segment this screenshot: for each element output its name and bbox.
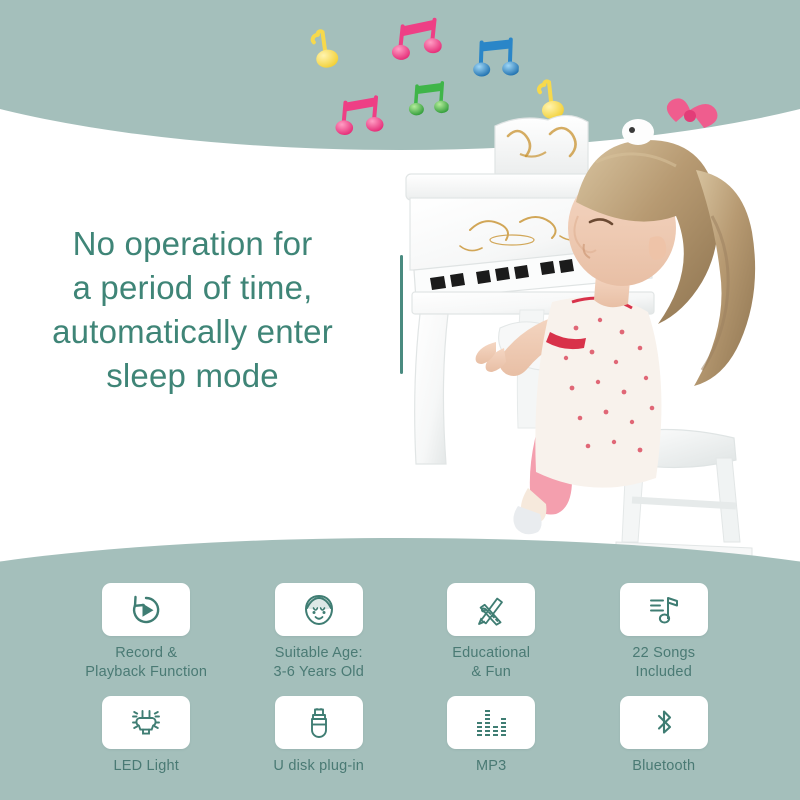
headline: No operation for a period of time, autom… xyxy=(0,222,385,398)
feature-label: LED Light xyxy=(114,757,179,776)
feature-label: 22 Songs Included xyxy=(632,644,695,682)
feature-icon-card[interactable] xyxy=(447,583,535,636)
feature-label: Suitable Age: 3-6 Years Old xyxy=(274,644,364,682)
piano-music-rack xyxy=(495,115,588,174)
hair-bow xyxy=(667,98,718,128)
headline-line-2: a period of time, xyxy=(0,266,385,310)
feature-mp3[interactable]: MP3 xyxy=(405,696,578,776)
feature-led-light[interactable]: LED Light xyxy=(60,696,233,776)
feature-icon-card[interactable] xyxy=(275,696,363,749)
product-feature-banner: No operation for a period of time, autom… xyxy=(0,0,800,800)
music-note-yellow-single-left xyxy=(303,26,345,75)
music-note-blue-beamed xyxy=(472,33,520,89)
music-playlist-icon xyxy=(647,593,681,627)
child-face-icon xyxy=(302,593,336,627)
feature-label: Educational & Fun xyxy=(452,644,530,682)
feature-icon-card[interactable] xyxy=(620,696,708,749)
feature-grid: Record & Playback Function Suitab xyxy=(60,583,750,776)
usb-drive-icon xyxy=(302,706,336,740)
hair-clip xyxy=(622,119,654,145)
feature-record-playback[interactable]: Record & Playback Function xyxy=(60,583,233,682)
feature-icon-card[interactable] xyxy=(275,583,363,636)
feature-label: MP3 xyxy=(476,757,506,776)
headline-line-4: sleep mode xyxy=(0,354,385,398)
feature-icon-card[interactable] xyxy=(102,696,190,749)
feature-educational-fun[interactable]: Educational & Fun xyxy=(405,583,578,682)
feature-label: U disk plug-in xyxy=(273,757,364,776)
feature-label: Record & Playback Function xyxy=(85,644,207,682)
feature-songs-included[interactable]: 22 Songs Included xyxy=(578,583,751,682)
headline-line-1: No operation for xyxy=(0,222,385,266)
music-note-pink-beamed-top xyxy=(389,12,445,75)
feature-bluetooth[interactable]: Bluetooth xyxy=(578,696,751,776)
feature-suitable-age[interactable]: Suitable Age: 3-6 Years Old xyxy=(233,583,406,682)
product-photo xyxy=(400,96,800,566)
ruler-pencil-icon xyxy=(474,593,508,627)
led-bulb-icon xyxy=(129,706,163,740)
record-playback-icon xyxy=(129,593,163,627)
music-note-pink-beamed-bottom xyxy=(334,90,387,150)
bluetooth-icon xyxy=(647,706,681,740)
headline-line-3: automatically enter xyxy=(0,310,385,354)
feature-u-disk[interactable]: U disk plug-in xyxy=(233,696,406,776)
feature-icon-card[interactable] xyxy=(102,583,190,636)
feature-label: Bluetooth xyxy=(632,757,695,776)
feature-icon-card[interactable] xyxy=(447,696,535,749)
equalizer-icon xyxy=(474,706,508,740)
feature-icon-card[interactable] xyxy=(620,583,708,636)
